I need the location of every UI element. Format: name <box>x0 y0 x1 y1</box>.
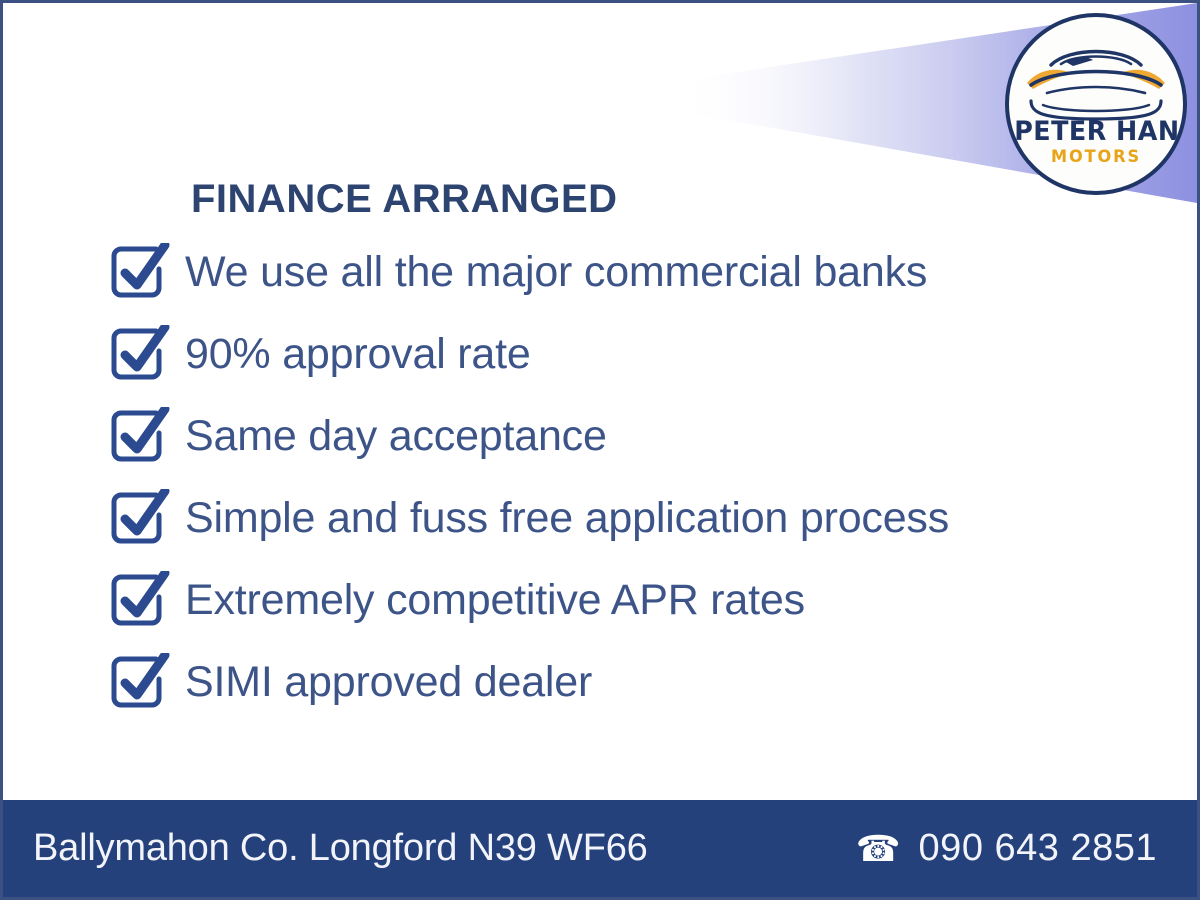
page-title: FINANCE ARRANGED <box>191 177 618 222</box>
list-item-label: Simple and fuss free application process <box>185 494 949 543</box>
list-item: Simple and fuss free application process <box>109 487 1109 549</box>
list-item-label: Same day acceptance <box>185 412 607 461</box>
logo-company-name: PETER HANLEY <box>1014 118 1178 145</box>
list-item: Same day acceptance <box>109 405 1109 467</box>
checkbox-checked-icon <box>109 489 171 547</box>
feature-list: We use all the major commercial banks 90… <box>109 241 1109 733</box>
checkbox-checked-icon <box>109 571 171 629</box>
list-item-label: Extremely competitive APR rates <box>185 576 805 625</box>
checkbox-checked-icon <box>109 653 171 711</box>
footer-address: Ballymahon Co. Longford N39 WF66 <box>33 827 648 870</box>
checkbox-checked-icon <box>109 325 171 383</box>
list-item: SIMI approved dealer <box>109 651 1109 713</box>
logo-subtitle: MOTORS <box>1013 149 1178 166</box>
car-front-icon <box>1017 31 1175 123</box>
list-item-label: 90% approval rate <box>185 330 531 379</box>
list-item: 90% approval rate <box>109 323 1109 385</box>
company-logo-badge: PETER HANLEY MOTORS <box>1005 13 1187 195</box>
list-item: Extremely competitive APR rates <box>109 569 1109 631</box>
list-item: We use all the major commercial banks <box>109 241 1109 303</box>
checkbox-checked-icon <box>109 243 171 301</box>
list-item-label: We use all the major commercial banks <box>185 248 927 297</box>
list-item-label: SIMI approved dealer <box>185 658 592 707</box>
footer-phone-group[interactable]: ☎ 090 643 2851 <box>856 827 1157 870</box>
footer-phone-number[interactable]: 090 643 2851 <box>919 827 1157 870</box>
finance-arranged-poster: PETER HANLEY MOTORS FINANCE ARRANGED We … <box>0 0 1200 900</box>
footer-bar: Ballymahon Co. Longford N39 WF66 ☎ 090 6… <box>3 800 1197 897</box>
checkbox-checked-icon <box>109 407 171 465</box>
telephone-icon: ☎ <box>856 831 901 867</box>
